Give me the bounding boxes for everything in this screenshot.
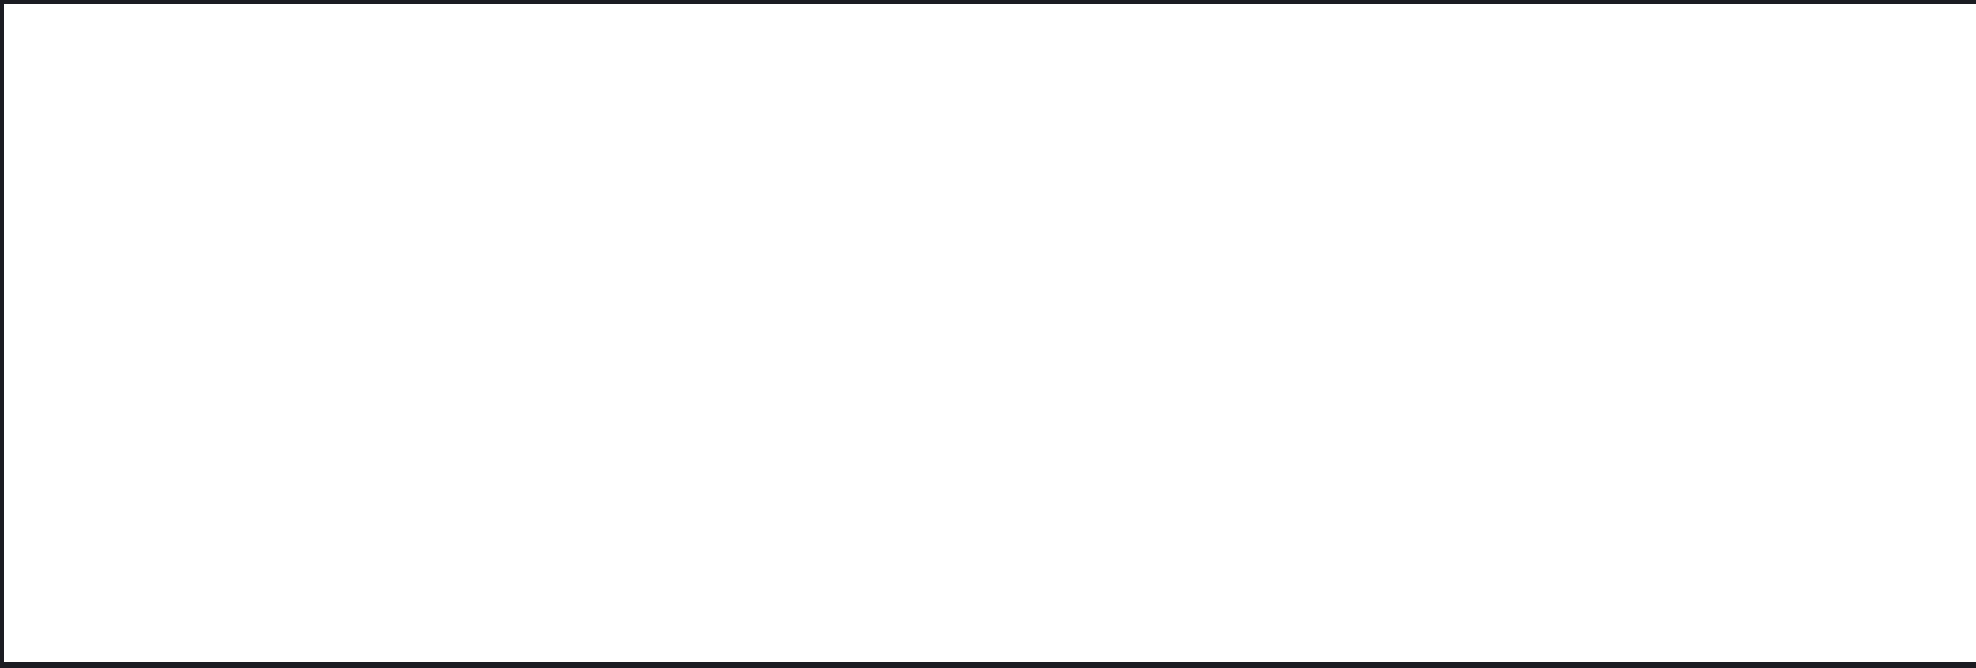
markdown-badge-letter: M bbox=[1874, 589, 1894, 613]
osquery-icon bbox=[598, 73, 626, 101]
list-group: 1 2 3 bbox=[172, 65, 304, 109]
bulleted-list-button[interactable] bbox=[172, 65, 216, 109]
comment-button[interactable] bbox=[502, 65, 546, 109]
toolbar-divider bbox=[485, 70, 486, 104]
scrollbar-thumb[interactable] bbox=[1919, 140, 1928, 412]
code-button[interactable] bbox=[381, 65, 425, 109]
checklist-icon bbox=[269, 74, 295, 100]
field-header: Investigation guide Optional bbox=[4, 4, 1976, 54]
checklist-button[interactable] bbox=[260, 65, 304, 109]
italic-icon: I bbox=[113, 74, 122, 100]
resize-handle[interactable] bbox=[1909, 522, 1935, 548]
svg-text:3: 3 bbox=[226, 90, 231, 99]
toolbar-divider bbox=[155, 70, 156, 104]
markdown-content: This is the investigation guide for the … bbox=[29, 120, 1945, 552]
text-style-group: B I bbox=[51, 65, 139, 109]
quote-icon bbox=[346, 74, 372, 100]
markdown-badge-arrow-icon: ↓ bbox=[1896, 589, 1908, 612]
osquery-button[interactable] bbox=[590, 65, 634, 109]
investigation-guide-form-row: Investigation guide Optional B I bbox=[0, 0, 1976, 668]
markdown-editor: B I bbox=[28, 54, 1946, 650]
bulleted-list-icon bbox=[181, 74, 207, 100]
toolbar-divider bbox=[320, 70, 321, 104]
guide-paragraph-1: This is the investigation guide for the … bbox=[77, 210, 1899, 244]
numbered-list-button[interactable]: 1 2 3 bbox=[216, 65, 260, 109]
comment-icon bbox=[511, 74, 537, 100]
guide-paragraph-3: This action dynamically uses the `event.… bbox=[77, 550, 1899, 552]
eye-icon bbox=[1795, 71, 1823, 104]
block-group bbox=[337, 65, 469, 109]
optional-badge: Optional bbox=[1872, 19, 1947, 42]
link-button[interactable] bbox=[425, 65, 469, 109]
bold-icon: B bbox=[65, 75, 82, 100]
editor-footer: M ↓ bbox=[29, 552, 1945, 649]
italic-button[interactable]: I bbox=[95, 65, 139, 109]
investigate-timeline-icon bbox=[643, 74, 669, 100]
bold-button[interactable]: B bbox=[51, 65, 95, 109]
timeline-icon bbox=[555, 74, 581, 100]
code-icon bbox=[390, 74, 416, 100]
preview-toggle[interactable]: Preview bbox=[1795, 71, 1927, 104]
guide-paragraph-2: !{investigate{"label":"Test action","des… bbox=[77, 346, 1899, 448]
preview-label: Preview bbox=[1836, 74, 1919, 101]
investigate-timeline-button[interactable] bbox=[634, 65, 678, 109]
numbered-list-icon: 1 2 3 bbox=[225, 74, 251, 100]
quote-button[interactable] bbox=[337, 65, 381, 109]
markdown-textarea[interactable]: This is the investigation guide for the … bbox=[29, 120, 1945, 552]
link-icon bbox=[434, 74, 460, 100]
markdown-supported-badge[interactable]: M ↓ bbox=[1862, 583, 1920, 620]
textarea-scrollbar[interactable] bbox=[1927, 128, 1937, 544]
editor-toolbar: B I bbox=[29, 55, 1945, 120]
page-title: Investigation guide bbox=[28, 18, 221, 42]
timeline-button[interactable] bbox=[546, 65, 590, 109]
security-plugins-group bbox=[502, 65, 678, 109]
